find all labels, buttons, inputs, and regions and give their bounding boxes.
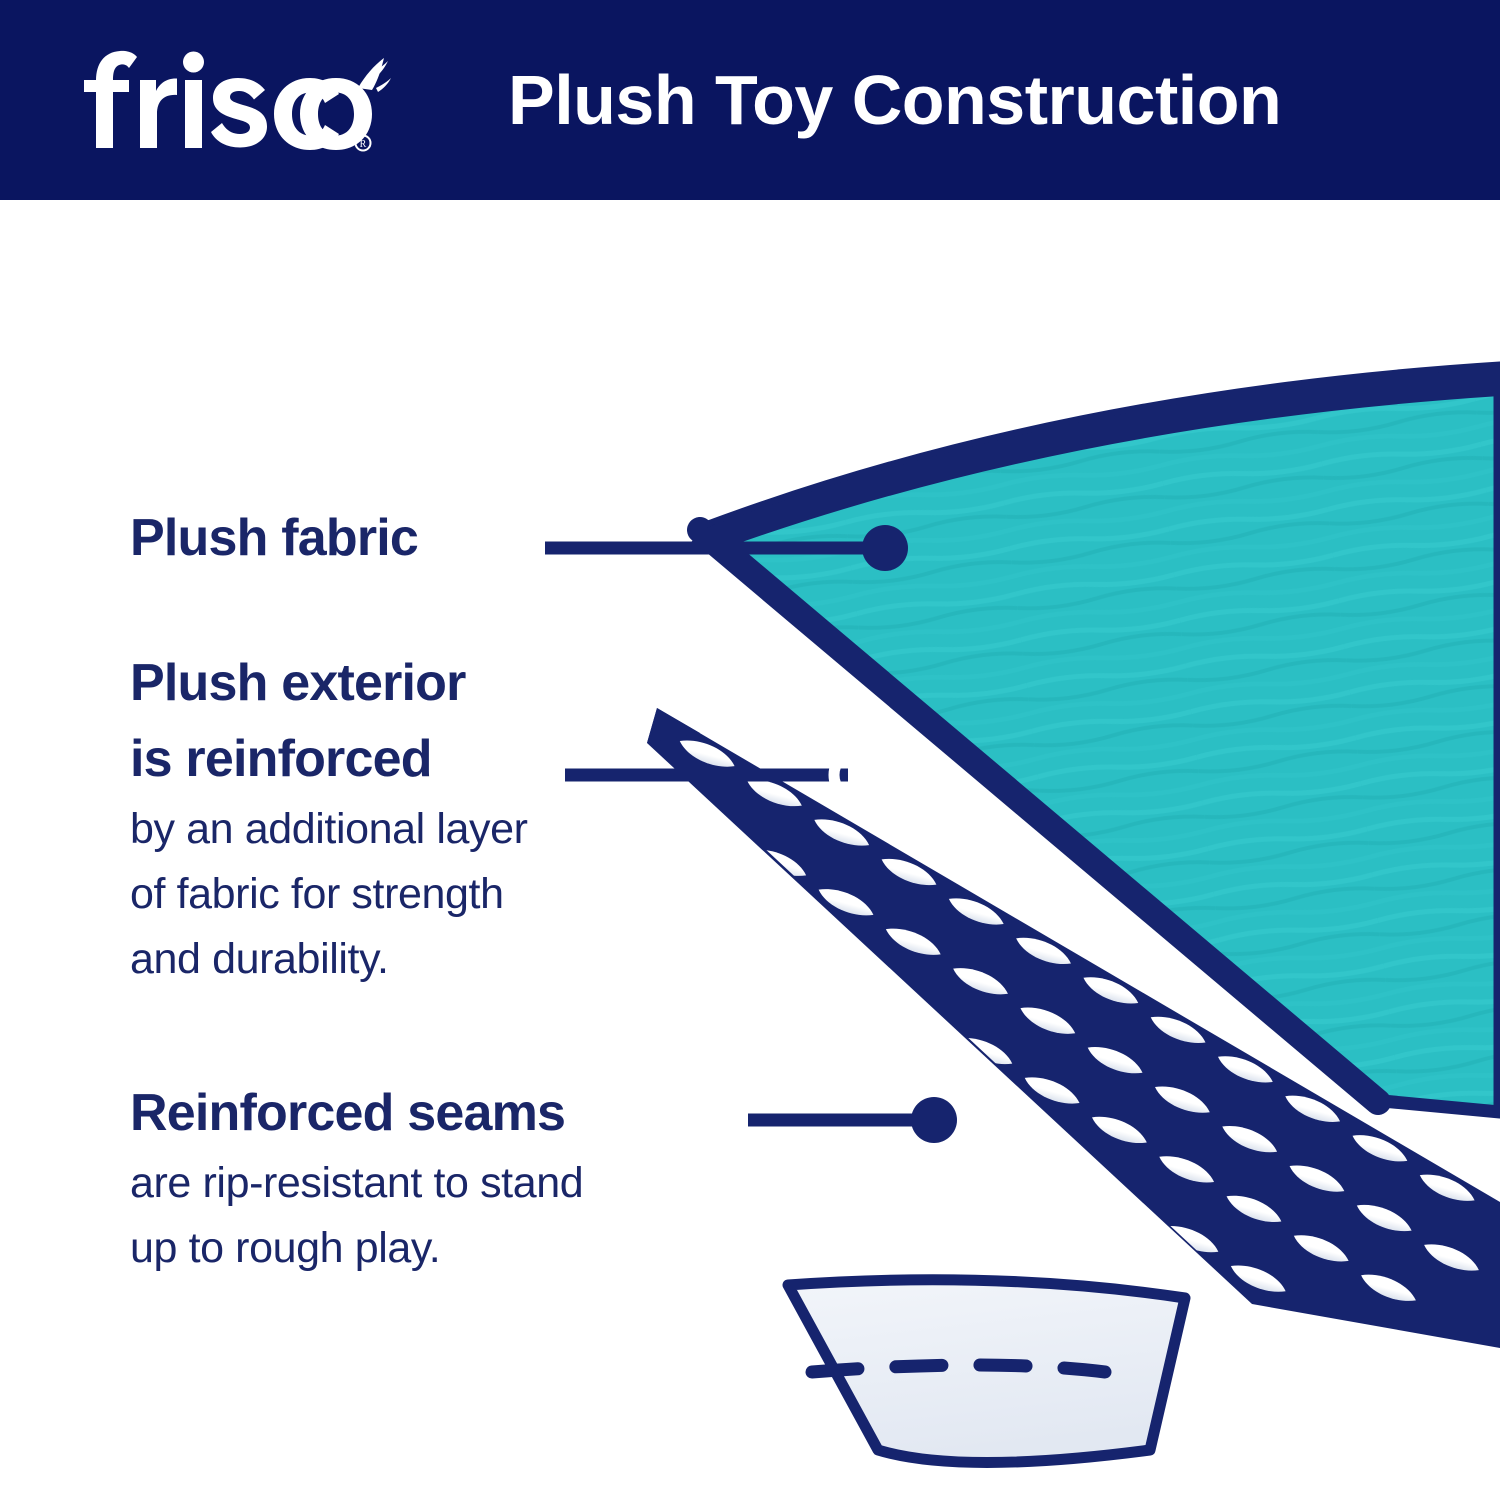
leader-dot-reinforced-seams <box>911 1097 957 1143</box>
callout-plush-fabric-heading-0: Plush fabric <box>130 500 418 576</box>
callout-plush-exterior-body-1: of fabric for strength <box>130 862 528 927</box>
infographic-canvas: R Plush Toy Construction <box>0 0 1500 1500</box>
callout-reinforced-seams-body-1: up to rough play. <box>130 1216 583 1281</box>
callout-reinforced-seams-body-0: are rip-resistant to stand <box>130 1151 583 1216</box>
callout-reinforced-seams-heading-0: Reinforced seams <box>130 1075 583 1151</box>
reinforced-seam-flap <box>788 1280 1185 1463</box>
svg-text:R: R <box>360 139 367 150</box>
callout-reinforced-seams: Reinforced seams are rip-resistant to st… <box>130 1075 583 1281</box>
callout-plush-exterior: Plush exterior is reinforced by an addit… <box>130 645 528 992</box>
callout-plush-fabric: Plush fabric <box>130 500 418 576</box>
header-band: R Plush Toy Construction <box>0 0 1500 200</box>
callout-plush-exterior-body-0: by an additional layer <box>130 797 528 862</box>
leader-dot-plush-fabric <box>862 525 908 571</box>
leader-reinforced-seams <box>748 1097 957 1143</box>
frisco-logo: R <box>82 44 392 156</box>
page-title: Plush Toy Construction <box>508 48 1388 152</box>
callout-plush-exterior-body-2: and durability. <box>130 927 528 992</box>
callout-plush-exterior-heading-1: is reinforced <box>130 721 528 797</box>
callout-plush-exterior-heading-0: Plush exterior <box>130 645 528 721</box>
